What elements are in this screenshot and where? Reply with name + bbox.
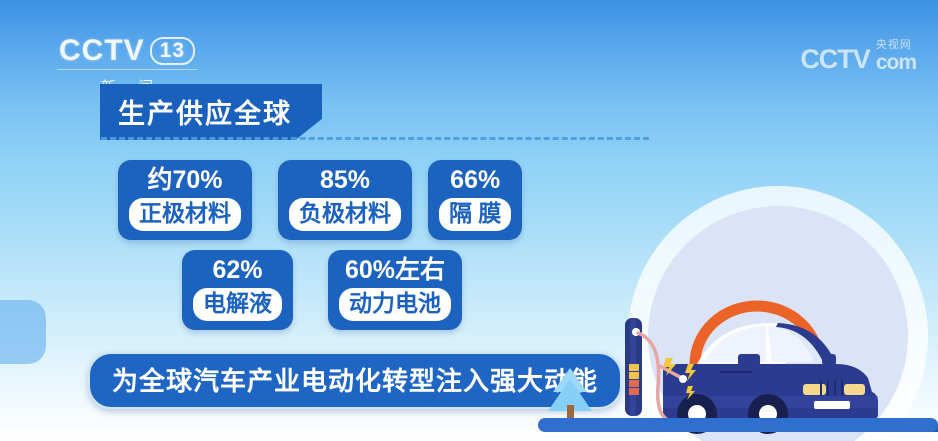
stat-card-electrolyte: 62% 电解液 [182,250,293,330]
stat-value: 85% [289,167,401,194]
watermark-main-text: CCTV [800,46,870,73]
charge-port-icon [679,375,687,383]
stat-value: 62% [193,257,282,284]
stat-label: 隔 膜 [439,198,511,231]
watermark-side: 央视网 com [876,40,916,73]
charger-led-yellow-1 [629,364,639,371]
watermark-com-text: com [876,52,916,73]
cctv-com-watermark: CCTV 央视网 com [800,40,916,73]
headlight-right-icon [844,384,865,395]
charger-led-yellow-2 [629,372,639,379]
stat-card-power-battery: 60%左右 动力电池 [328,250,462,330]
cctv-logo-mark: CCTV 13 [52,36,202,66]
stat-card-anode: 85% 负极材料 [278,160,412,240]
charger-led-red-1 [629,380,639,387]
cctv-logo-text: CCTV [59,36,145,66]
stat-value: 60%左右 [339,257,451,284]
headlight-left-icon [803,384,826,395]
license-plate [814,401,850,409]
headline-banner: 生产供应全球 [100,84,322,140]
stat-label: 负极材料 [289,198,401,231]
cctv-logo-number: 13 [150,37,195,65]
ground-bar [538,418,938,432]
stat-label: 动力电池 [339,288,451,321]
stat-value: 66% [439,167,511,194]
footer-banner: 为全球汽车产业电动化转型注入强大动能 [88,352,622,409]
stat-label: 正极材料 [129,198,241,231]
stat-value: 约70% [129,167,241,194]
car-roof-box-2 [822,354,836,365]
stat-card-cathode: 约70% 正极材料 [118,160,252,240]
infographic-canvas: CCTV 13 新 闻 CCTV 央视网 com 生产供应全球 约70% 正极材… [0,0,938,441]
watermark-cn-text: 央视网 [876,40,916,51]
decor-blob-left [0,300,46,364]
stat-card-separator: 66% 隔 膜 [428,160,522,240]
stat-label: 电解液 [193,288,282,321]
cctv-logo-rule [57,69,197,70]
charger-led-red-2 [629,388,639,395]
dashed-divider [101,137,649,140]
car-roof-box [738,354,760,366]
